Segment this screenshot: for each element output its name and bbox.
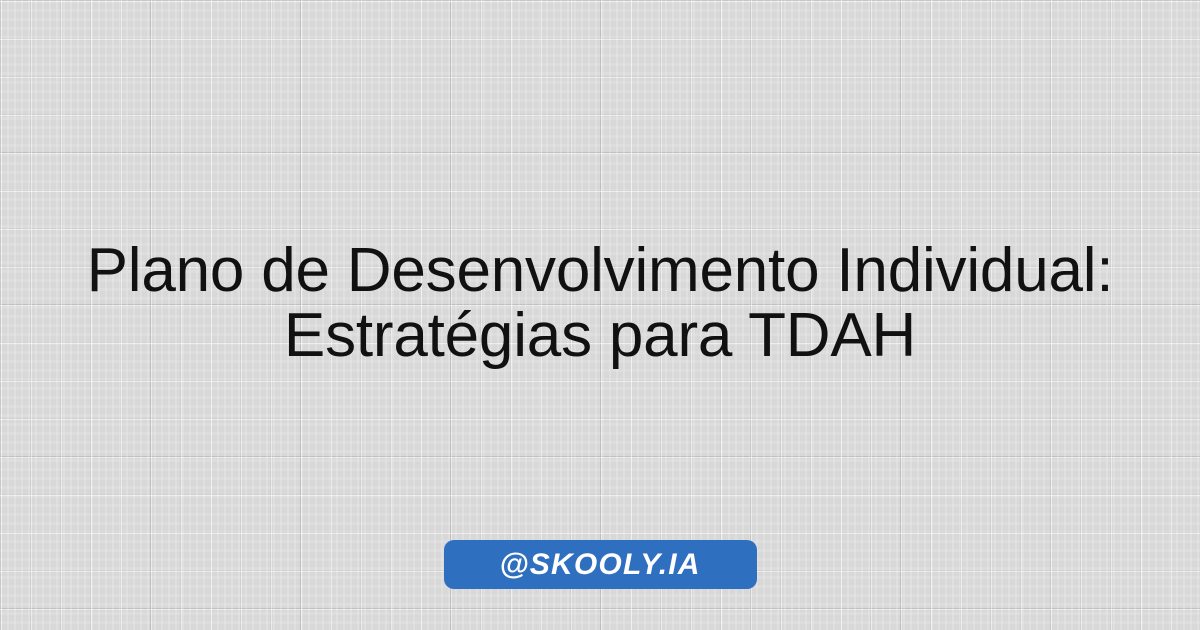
social-card-canvas: Plano de Desenvolvimento Individual: Est… — [0, 0, 1200, 630]
page-title-line-1: Plano de Desenvolvimento Individual: — [24, 238, 1176, 303]
page-title-line-2: Estratégias para TDAH — [24, 303, 1176, 368]
handle-badge[interactable]: @SKOOLY.IA — [444, 540, 757, 589]
page-title: Plano de Desenvolvimento Individual: Est… — [0, 238, 1200, 368]
branding-badge-container: @SKOOLY.IA — [0, 540, 1200, 589]
